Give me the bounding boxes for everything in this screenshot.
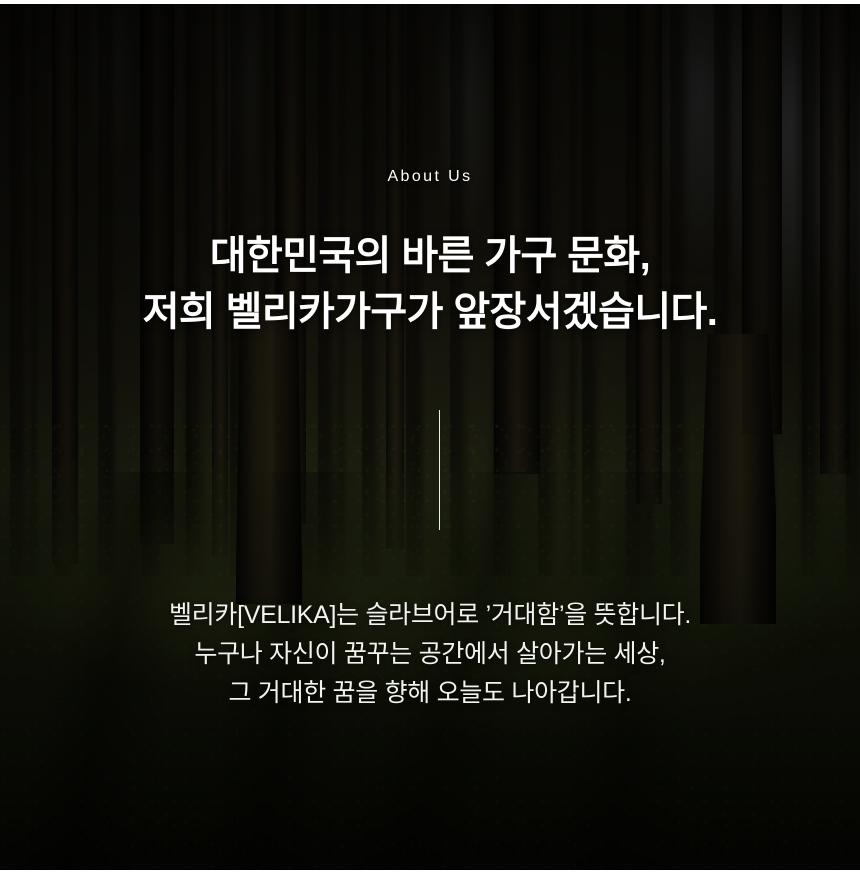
about-content: About Us 대한민국의 바른 가구 문화, 저희 벨리카가구가 앞장서겠습… <box>0 0 860 880</box>
body-line-2: 누구나 자신이 꿈꾸는 공간에서 살아가는 세상, <box>0 635 860 674</box>
headline-line-1: 대한민국의 바른 가구 문화, <box>0 228 860 284</box>
vertical-divider <box>439 410 440 530</box>
about-description: 벨리카[VELIKA]는 슬라브어로 ’거대함’을 뜻합니다. 누구나 자신이 … <box>0 596 860 713</box>
page-title: 대한민국의 바른 가구 문화, 저희 벨리카가구가 앞장서겠습니다. <box>0 228 860 340</box>
body-line-3: 그 거대한 꿈을 향해 오늘도 나아갑니다. <box>0 674 860 713</box>
about-us-section: About Us 대한민국의 바른 가구 문화, 저희 벨리카가구가 앞장서겠습… <box>0 0 860 880</box>
top-edge-strip <box>0 0 860 4</box>
section-eyebrow-label: About Us <box>0 168 860 186</box>
headline-line-2: 저희 벨리카가구가 앞장서겠습니다. <box>0 284 860 340</box>
body-line-1: 벨리카[VELIKA]는 슬라브어로 ’거대함’을 뜻합니다. <box>0 596 860 635</box>
bottom-edge-strip <box>0 870 860 880</box>
